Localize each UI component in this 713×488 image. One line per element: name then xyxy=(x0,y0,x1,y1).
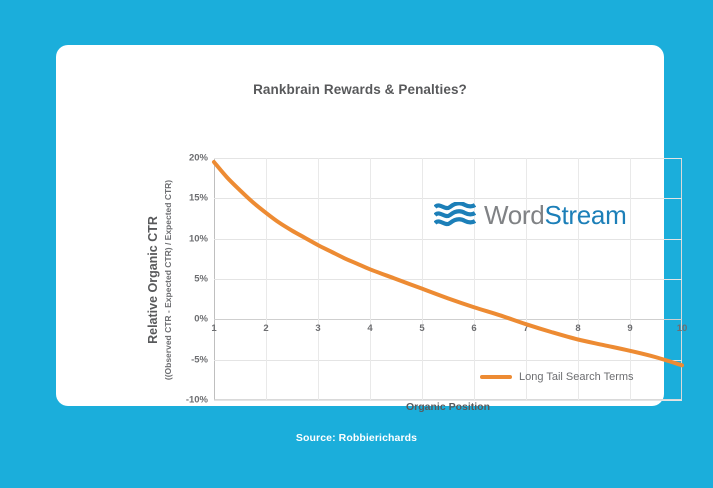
y-tick-label: -10% xyxy=(186,395,208,406)
logo-stream-part: Stream xyxy=(544,200,626,230)
y-tick-label: -5% xyxy=(191,354,208,365)
y-tick-label: 10% xyxy=(189,233,208,244)
logo-word-part: Word xyxy=(484,200,544,230)
x-axis-title: Organic Position xyxy=(214,401,682,413)
source-caption: Source: Robbierichards xyxy=(0,432,713,444)
wordstream-logo: WordStream xyxy=(434,202,626,228)
legend-color-swatch xyxy=(480,375,512,379)
y-tick-label: 5% xyxy=(194,274,208,285)
legend-label-long-tail-search-terms: Long Tail Search Terms xyxy=(519,371,634,383)
y-axis-subtitle-container: ((Observed CTR - Expected CTR) / Expecte… xyxy=(160,157,176,402)
y-tick-label: 0% xyxy=(194,314,208,325)
series-line-long-tail-search-terms xyxy=(214,162,682,365)
y-axis-subtitle: ((Observed CTR - Expected CTR) / Expecte… xyxy=(163,179,173,379)
wordstream-waves-icon xyxy=(434,202,476,228)
chart-card: Rankbrain Rewards & Penalties? Relative … xyxy=(56,45,664,406)
plot-area: 20%15%10%5%0%-5%-10% 12345678910 xyxy=(214,158,682,400)
series-layer xyxy=(214,158,682,400)
chart-legend: Long Tail Search Terms xyxy=(480,371,634,383)
wordstream-logo-text: WordStream xyxy=(484,202,626,228)
chart-title: Rankbrain Rewards & Penalties? xyxy=(56,82,664,97)
y-axis-title: Relative Organic CTR xyxy=(146,216,160,344)
y-tick-label: 20% xyxy=(189,153,208,164)
y-tick-label: 15% xyxy=(189,193,208,204)
screenshot-root: Rankbrain Rewards & Penalties? Relative … xyxy=(0,0,713,488)
